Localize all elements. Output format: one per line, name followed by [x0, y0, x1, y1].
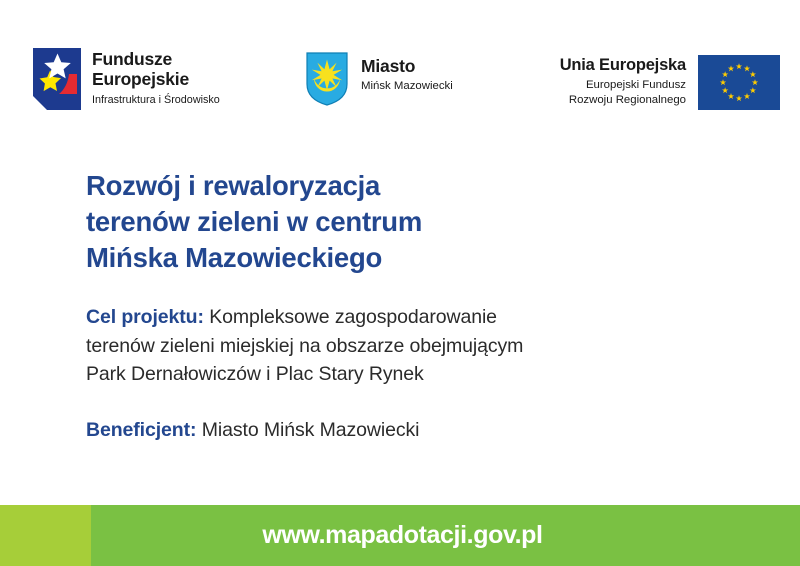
information-poster: Fundusze Europejskie Infrastruktura i Śr… [0, 0, 800, 566]
footer-url-container: www.mapadotacji.gov.pl [91, 505, 800, 566]
eu-subtitle-line1: Europejski Fundusz [560, 78, 686, 93]
project-goal-label: Cel projektu: [86, 306, 204, 328]
fundusze-europejskie-logo-block: Fundusze Europejskie Infrastruktura i Śr… [33, 48, 220, 110]
footer-accent-block [0, 505, 91, 566]
eu-wordmark: Unia Europejska Europejski Fundusz Rozwo… [560, 55, 686, 108]
project-goal-paragraph: Cel projektu: Kompleksowe zagospodarowan… [86, 303, 706, 388]
eu-title: Unia Europejska [560, 56, 686, 75]
project-title-line-2: terenów zieleni w centrum [86, 204, 740, 240]
project-goal-first-line: Cel projektu: Kompleksowe zagospodarowan… [86, 303, 706, 331]
fundusze-europejskie-wordmark: Fundusze Europejskie Infrastruktura i Śr… [92, 48, 220, 107]
project-title-line-1: Rozwój i rewaloryzacja [86, 168, 740, 204]
minsk-mazowiecki-coat-of-arms-icon [305, 51, 349, 107]
beneficiary-label: Beneficjent: [86, 419, 196, 441]
footer-bar: www.mapadotacji.gov.pl [0, 505, 800, 566]
footer-url-link[interactable]: www.mapadotacji.gov.pl [262, 521, 542, 550]
logo-strip: Fundusze Europejskie Infrastruktura i Śr… [0, 0, 800, 132]
funds-subtitle: Infrastruktura i Środowisko [92, 93, 220, 107]
beneficiary-value: Miasto Mińsk Mazowiecki [196, 419, 419, 441]
fundusze-europejskie-logo-icon [33, 48, 81, 110]
city-wordmark: Miasto Mińsk Mazowiecki [361, 51, 453, 94]
project-goal-text-line1: Kompleksowe zagospodarowanie [204, 306, 497, 328]
city-title: Miasto [361, 56, 453, 76]
page-title: Rozwój i rewaloryzacja terenów zieleni w… [86, 168, 740, 275]
funds-title-line1: Fundusze [92, 49, 220, 69]
european-union-logo-block: Unia Europejska Europejski Fundusz Rozwo… [560, 55, 780, 110]
city-subtitle: Mińsk Mazowiecki [361, 79, 453, 94]
city-logo-block: Miasto Mińsk Mazowiecki [305, 51, 453, 107]
beneficiary-paragraph: Beneficjent: Miasto Mińsk Mazowiecki [86, 416, 706, 444]
eu-subtitle-line2: Rozwoju Regionalnego [560, 93, 686, 108]
project-title-line-3: Mińska Mazowieckiego [86, 240, 740, 276]
project-goal-text-line3: Park Dernałowiczów i Plac Stary Rynek [86, 360, 706, 388]
poster-content: Rozwój i rewaloryzacja terenów zieleni w… [86, 168, 740, 464]
european-union-flag-icon [698, 55, 780, 110]
funds-title-line2: Europejskie [92, 69, 220, 89]
project-goal-text-line2: terenów zieleni miejskiej na obszarze ob… [86, 332, 706, 360]
